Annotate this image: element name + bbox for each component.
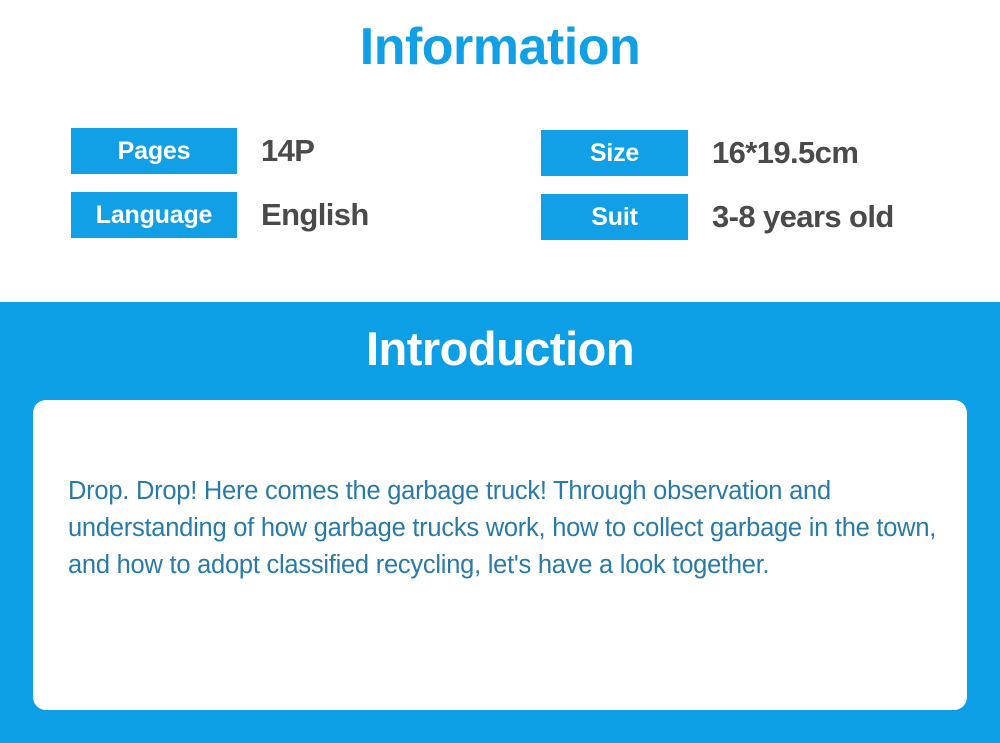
spec-label-suit: Suit [541, 194, 688, 240]
spec-row-size: Size 16*19.5cm [541, 130, 894, 176]
spec-row-pages: Pages 14P [71, 128, 369, 174]
introduction-title: Introduction [0, 322, 1000, 376]
spec-row-suit: Suit 3-8 years old [541, 194, 894, 240]
introduction-section: Introduction Drop. Drop! Here comes the … [0, 302, 1000, 743]
spec-value-suit: 3-8 years old [712, 199, 894, 235]
introduction-card: Drop. Drop! Here comes the garbage truck… [33, 400, 967, 710]
specification-column-left: Pages 14P Language English [71, 128, 369, 238]
spec-label-size: Size [541, 130, 688, 176]
spec-label-language: Language [71, 192, 237, 238]
information-section: Information Pages 14P Language English S… [0, 0, 1000, 302]
specification-column-right: Size 16*19.5cm Suit 3-8 years old [541, 130, 894, 240]
spec-row-language: Language English [71, 192, 369, 238]
introduction-body-text: Drop. Drop! Here comes the garbage truck… [68, 473, 940, 584]
spec-value-pages: 14P [261, 133, 314, 169]
information-title: Information [0, 18, 1000, 78]
spec-value-size: 16*19.5cm [712, 135, 858, 171]
spec-value-language: English [261, 197, 369, 233]
specification-grid: Pages 14P Language English Size 16*19.5c… [0, 128, 1000, 258]
spec-label-pages: Pages [71, 128, 237, 174]
